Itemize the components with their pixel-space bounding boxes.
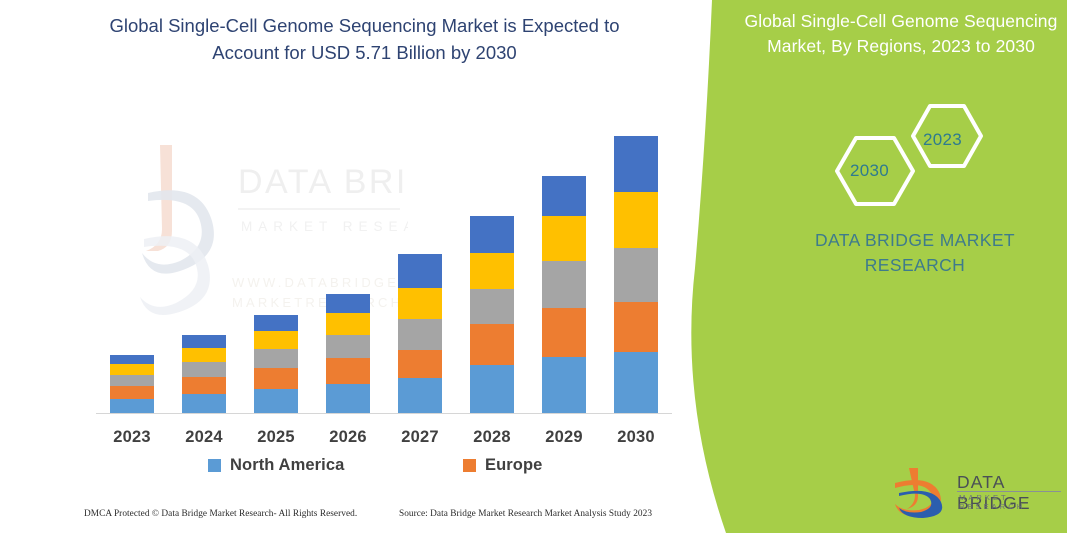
x-axis-label-2025: 2025	[241, 428, 311, 447]
legend-swatch-icon	[463, 459, 476, 472]
x-axis-label-2028: 2028	[457, 428, 527, 447]
hexagon-badge-group: 2023 2030	[828, 98, 1018, 208]
panel-title: Global Single-Cell Genome Sequencing Mar…	[742, 9, 1060, 59]
bar-2027	[398, 254, 442, 413]
bar-segment-2026-south-america	[326, 313, 370, 335]
hexagon-2023-label: 2023	[923, 130, 962, 150]
bar-segment-2023-asia-pacific	[110, 375, 154, 386]
bar-segment-2024-europe	[182, 377, 226, 394]
infographic-canvas: Global Single-Cell Genome Sequencing Mar…	[0, 0, 1067, 533]
bar-segment-2024-middle-east-and-africa	[182, 335, 226, 348]
bar-segment-2025-europe	[254, 368, 298, 389]
data-bridge-logo: DATA BRIDGE MARKET RESEARCH	[893, 466, 1063, 520]
bar-segment-2027-middle-east-and-africa	[398, 254, 442, 288]
bar-segment-2024-asia-pacific	[182, 362, 226, 377]
logo-divider	[957, 491, 1061, 492]
bar-segment-2025-middle-east-and-africa	[254, 315, 298, 331]
bar-2025	[254, 315, 298, 413]
bar-segment-2028-north-america	[470, 365, 514, 413]
legend-item-north-america[interactable]: North America	[208, 456, 344, 475]
bar-chart-plot	[96, 120, 672, 413]
bar-segment-2026-europe	[326, 358, 370, 384]
bar-segment-2029-north-america	[542, 357, 586, 413]
chart-legend: North AmericaEurope	[208, 456, 568, 480]
x-axis-label-2026: 2026	[313, 428, 383, 447]
page-title: Global Single-Cell Genome Sequencing Mar…	[92, 12, 637, 67]
bar-2026	[326, 294, 370, 413]
bar-segment-2023-north-america	[110, 399, 154, 413]
bar-segment-2028-middle-east-and-africa	[470, 216, 514, 253]
bar-segment-2029-asia-pacific	[542, 261, 586, 308]
x-axis-label-2024: 2024	[169, 428, 239, 447]
bar-segment-2025-asia-pacific	[254, 349, 298, 368]
hexagon-2030-label: 2030	[850, 161, 889, 181]
legend-swatch-icon	[208, 459, 221, 472]
bar-segment-2028-europe	[470, 324, 514, 365]
x-axis-line	[96, 413, 672, 414]
bar-2023	[110, 355, 154, 413]
x-axis-label-2029: 2029	[529, 428, 599, 447]
bar-segment-2029-south-america	[542, 216, 586, 261]
bar-segment-2026-north-america	[326, 384, 370, 413]
bar-segment-2023-europe	[110, 386, 154, 399]
bar-segment-2023-middle-east-and-africa	[110, 355, 154, 364]
bar-segment-2026-asia-pacific	[326, 335, 370, 358]
x-axis-label-2027: 2027	[385, 428, 455, 447]
bar-2028	[470, 216, 514, 413]
x-axis-label-2023: 2023	[97, 428, 167, 447]
bar-segment-2027-north-america	[398, 378, 442, 413]
bar-segment-2029-middle-east-and-africa	[542, 176, 586, 216]
bar-segment-2027-asia-pacific	[398, 319, 442, 350]
bar-segment-2026-middle-east-and-africa	[326, 294, 370, 313]
bar-segment-2025-south-america	[254, 331, 298, 349]
bar-segment-2028-south-america	[470, 253, 514, 289]
bar-segment-2023-south-america	[110, 364, 154, 375]
legend-label: North America	[230, 456, 344, 475]
footer-dmca-notice: DMCA Protected © Data Bridge Market Rese…	[84, 509, 357, 519]
bar-segment-2029-europe	[542, 308, 586, 357]
bar-segment-2024-north-america	[182, 394, 226, 413]
legend-item-europe[interactable]: Europe	[463, 456, 542, 475]
bar-segment-2027-south-america	[398, 288, 442, 319]
bar-2024	[182, 335, 226, 413]
bar-2029	[542, 176, 586, 413]
bar-segment-2028-asia-pacific	[470, 289, 514, 324]
bar-segment-2025-north-america	[254, 389, 298, 413]
bar-segment-2024-south-america	[182, 348, 226, 362]
panel-brand-name: DATA BRIDGE MARKET RESEARCH	[770, 228, 1060, 279]
legend-label: Europe	[485, 456, 542, 475]
footer-source-note: Source: Data Bridge Market Research Mark…	[399, 509, 652, 519]
bar-segment-2027-europe	[398, 350, 442, 378]
logo-subtitle: MARKET RESEARCH	[959, 493, 1063, 511]
